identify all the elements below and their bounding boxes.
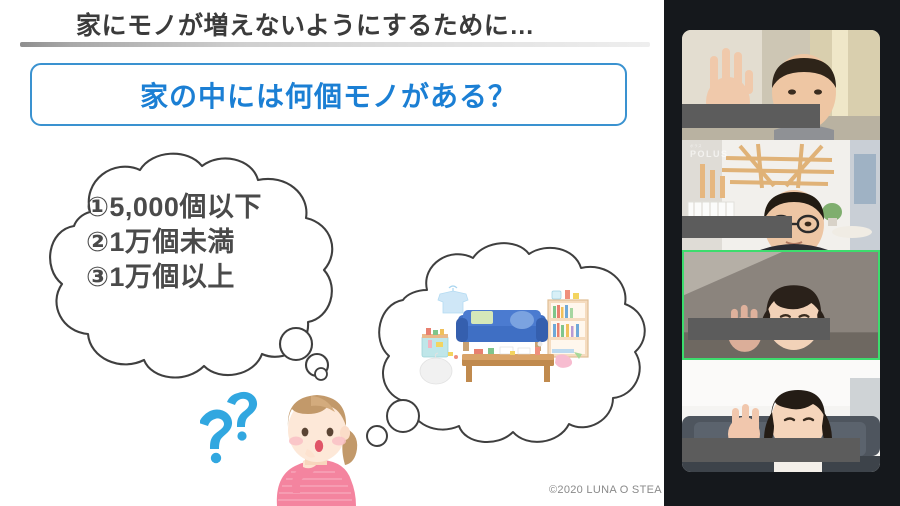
participant-name-bar-2 — [682, 216, 792, 238]
video-tile-participant-3[interactable] — [682, 250, 880, 360]
slide-content-area: 家にモノが増えないようにするために… 家の中には何個モノがある？ ①5,000個… — [0, 0, 664, 506]
title-divider — [20, 42, 650, 47]
page-title: 家にモノが増えないようにするために… — [76, 6, 535, 42]
woman-thinking-illustration — [255, 383, 375, 506]
headline-box: 家の中には何個モノがある？ — [30, 63, 627, 126]
option-2: ②1万個未満 — [86, 225, 262, 260]
video-tile-participant-4[interactable] — [682, 360, 880, 472]
copyright-notice: ©2020 LUNA O STEA — [549, 484, 662, 496]
hanging-shirt-icon — [438, 286, 468, 313]
option-3: ③1万個以上 — [86, 260, 262, 295]
presentation-screen: 家にモノが増えないようにするために… 家の中には何個モノがある？ ①5,000個… — [0, 0, 900, 506]
polus-watermark: ポラス POLUS — [690, 144, 729, 159]
participant-name-bar-4 — [682, 438, 860, 462]
toy-box-icon — [422, 328, 448, 357]
coffee-table-icon — [462, 347, 554, 382]
option-1: ①5,000個以下 — [86, 190, 262, 225]
living-room-illustration — [418, 278, 598, 388]
video-conference-panel: ポラス POLUS — [664, 0, 900, 506]
participant-name-bar-1 — [682, 104, 820, 128]
bookshelf-icon — [548, 290, 588, 357]
video-tile-participant-2[interactable]: ポラス POLUS — [682, 140, 880, 250]
video-feed-3 — [684, 252, 878, 360]
answer-options-list: ①5,000個以下 ②1万個未満 ③1万個以上 — [86, 190, 262, 294]
beanbag-icon — [420, 358, 452, 384]
video-tile-participant-1[interactable] — [682, 30, 880, 140]
headline-text: 家の中には何個モノがある？ — [32, 75, 625, 115]
sofa-icon — [456, 310, 548, 351]
participant-name-bar-3 — [688, 318, 830, 340]
